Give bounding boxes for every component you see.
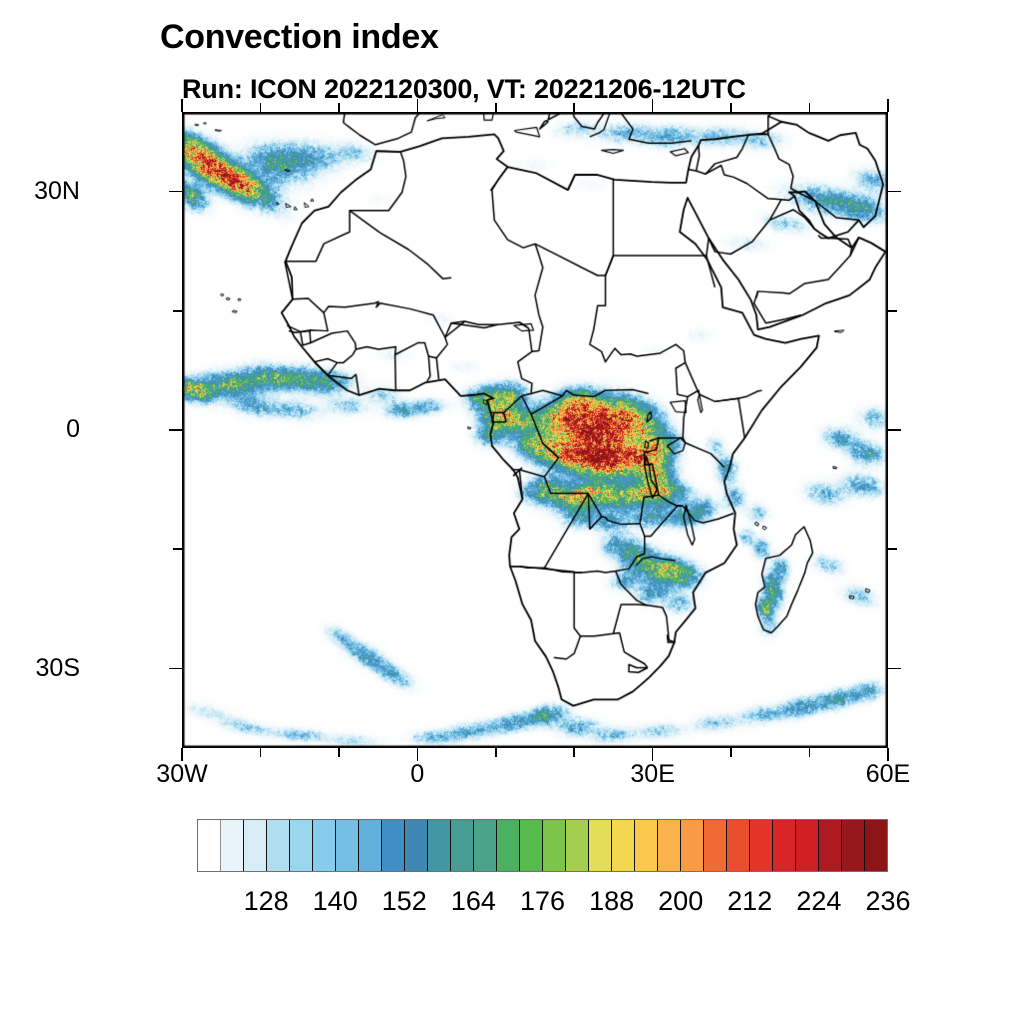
colorbar-cell	[658, 820, 681, 871]
colorbar-cell	[589, 820, 612, 871]
x-tick-major-top	[652, 99, 654, 112]
colorbar-cell	[428, 820, 451, 871]
x-tick-major-top	[887, 99, 889, 112]
colorbar-cell	[612, 820, 635, 871]
colorbar-cell	[474, 820, 497, 871]
colorbar-cell	[359, 820, 382, 871]
colorbar-cell	[773, 820, 796, 871]
y-tick-major	[169, 191, 182, 193]
colorbar-cell	[819, 820, 842, 871]
x-tick-major-top	[417, 99, 419, 112]
colorbar-cell	[451, 820, 474, 871]
colorbar-cell	[267, 820, 290, 871]
y-tick-major-right	[888, 191, 901, 193]
colorbar-cell	[704, 820, 727, 871]
y-axis-label: 0	[66, 415, 80, 444]
x-tick-major-top	[181, 99, 183, 112]
y-axis-label: 30N	[34, 177, 80, 206]
x-tick-minor	[730, 748, 732, 757]
y-tick-major	[169, 429, 182, 431]
colorbar-tick-label: 236	[828, 886, 948, 917]
x-tick-minor-top	[730, 103, 732, 112]
colorbar-cell	[497, 820, 520, 871]
x-tick-minor-top	[495, 103, 497, 112]
map-plot-area	[182, 112, 888, 748]
colorbar-cell	[681, 820, 704, 871]
y-tick-minor	[173, 310, 182, 312]
colorbar-cell	[842, 820, 865, 871]
colorbar-cell	[336, 820, 359, 871]
x-tick-minor	[809, 748, 811, 757]
x-tick-minor-top	[573, 103, 575, 112]
colorbar-cell	[290, 820, 313, 871]
x-axis-label: 0	[357, 760, 477, 789]
x-tick-minor-top	[338, 103, 340, 112]
x-axis-label: 30E	[593, 760, 713, 789]
colorbar-cell	[566, 820, 589, 871]
colorbar-cell	[635, 820, 658, 871]
x-tick-minor	[260, 748, 262, 757]
run-valid-time-subtitle: Run: ICON 2022120300, VT: 20221206-12UTC	[182, 74, 746, 105]
x-axis-label: 30W	[122, 760, 242, 789]
x-axis-label: 60E	[828, 760, 948, 789]
y-tick-major-right	[888, 429, 901, 431]
colorbar-cell	[198, 820, 221, 871]
x-tick-minor	[338, 748, 340, 757]
y-tick-minor-right	[888, 310, 897, 312]
y-tick-major	[169, 668, 182, 670]
y-axis-label: 30S	[36, 654, 80, 683]
y-tick-major-right	[888, 668, 901, 670]
colorbar-cell	[221, 820, 244, 871]
colorbar-cell	[543, 820, 566, 871]
colorbar-cell	[244, 820, 267, 871]
y-tick-minor	[173, 548, 182, 550]
y-tick-minor-right	[888, 548, 897, 550]
colorbar-cell	[865, 820, 887, 871]
colorbar-cell	[750, 820, 773, 871]
colorbar-cell	[313, 820, 336, 871]
colorbar	[197, 819, 888, 872]
x-tick-minor-top	[260, 103, 262, 112]
x-tick-minor	[573, 748, 575, 757]
x-tick-minor	[495, 748, 497, 757]
x-tick-minor-top	[809, 103, 811, 112]
colorbar-cell	[382, 820, 405, 871]
page-title: Convection index	[160, 18, 439, 57]
colorbar-cell	[727, 820, 750, 871]
colorbar-cell	[405, 820, 428, 871]
colorbar-cell	[796, 820, 819, 871]
convection-index-field	[183, 113, 887, 747]
colorbar-cell	[520, 820, 543, 871]
